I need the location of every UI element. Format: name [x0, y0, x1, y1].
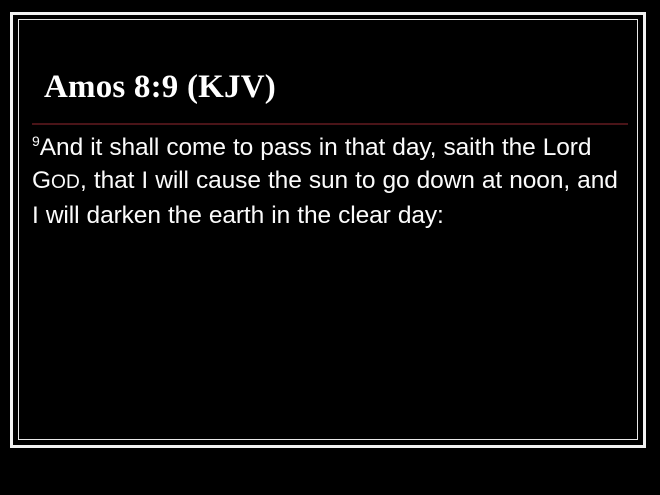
divine-name-smallcaps: OD	[51, 172, 80, 193]
slide-content: Amos 8:9 (KJV) 9And it shall come to pas…	[32, 28, 628, 432]
scripture-body: 9And it shall come to pass in that day, …	[32, 131, 628, 232]
slide-canvas: Amos 8:9 (KJV) 9And it shall come to pas…	[0, 0, 660, 495]
scripture-text-part-2: , that I will cause the sun to go down a…	[32, 167, 618, 229]
title-divider-rule	[32, 123, 628, 125]
verse-number: 9	[32, 133, 40, 149]
slide-title: Amos 8:9 (KJV)	[44, 68, 276, 106]
